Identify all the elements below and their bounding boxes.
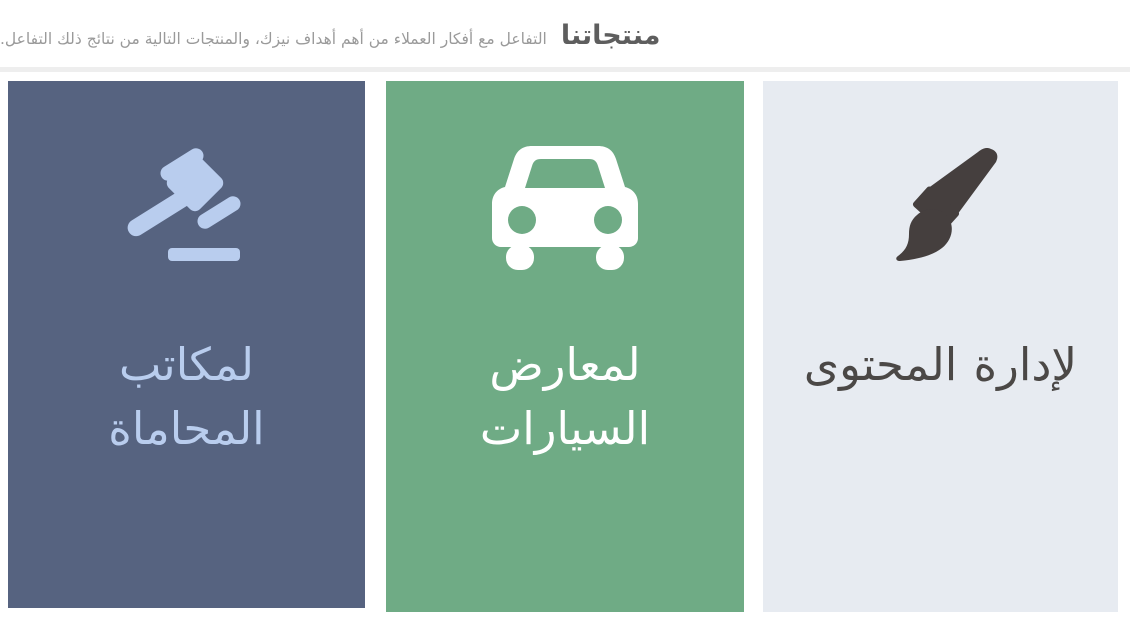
- header-text-group: منتجاتنا التفاعل مع أفكار العملاء من أهم…: [0, 22, 669, 50]
- header-divider: [0, 67, 1130, 72]
- product-card-car-showrooms[interactable]: لمعارض السيارات: [386, 81, 744, 612]
- product-cards-strip: لمكاتب المحاماة لمعارض السيارات: [0, 81, 1130, 623]
- car-icon: [386, 81, 744, 333]
- product-card-label: لمعارض السيارات: [415, 333, 716, 461]
- product-card-content-management[interactable]: لإدارة المحتوى: [763, 81, 1118, 612]
- paintbrush-icon: [763, 81, 1118, 333]
- product-card-law-offices[interactable]: لمكاتب المحاماة: [8, 81, 365, 608]
- products-section-header: منتجاتنا التفاعل مع أفكار العملاء من أهم…: [0, 0, 1130, 68]
- gavel-icon: [8, 81, 365, 333]
- product-card-label: لمكاتب المحاماة: [37, 333, 337, 461]
- page-title: منتجاتنا: [561, 22, 661, 49]
- product-card-label: لإدارة المحتوى: [791, 333, 1089, 397]
- section-subtitle: التفاعل مع أفكار العملاء من أهم أهداف ني…: [0, 28, 547, 50]
